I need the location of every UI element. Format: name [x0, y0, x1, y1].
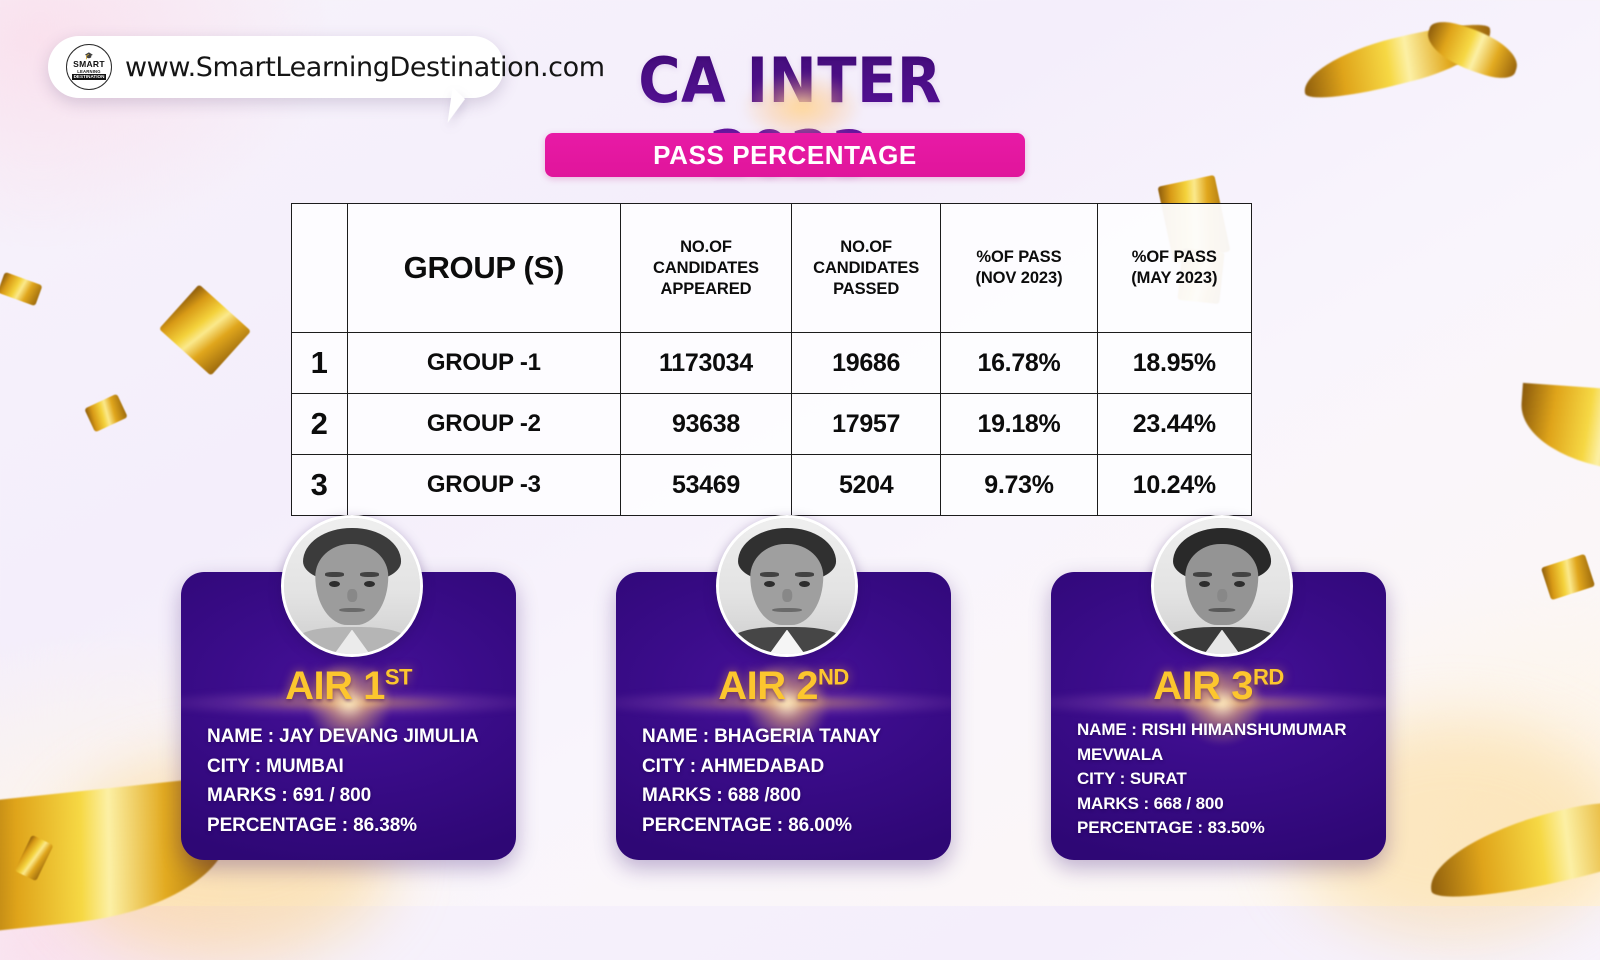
row-nov-pct: 16.78% [941, 333, 1097, 394]
topper-city: CITY : MUMBAI [207, 752, 507, 782]
header-may-l2: (MAY 2023) [1131, 269, 1217, 287]
brand-logo-icon: 🎓 SMART LEARNING DESTINATION [66, 44, 112, 90]
rank-text: AIR 2 [718, 664, 818, 708]
row-passed: 17957 [791, 394, 940, 455]
row-may-pct: 18.95% [1097, 333, 1251, 394]
row-group: GROUP -2 [347, 394, 620, 455]
rank-text: AIR 3 [1153, 664, 1253, 708]
header-nov-pass: %OF PASS (NOV 2023) [941, 204, 1097, 333]
row-appeared: 1173034 [621, 333, 792, 394]
topper-name: NAME : BHAGERIA TANAY [642, 722, 942, 752]
rank-suffix: ND [818, 665, 849, 690]
topper-name: NAME : JAY DEVANG JIMULIA [207, 722, 507, 752]
header-appeared-l2: CANDIDATES [653, 259, 759, 277]
header-appeared-l3: APPEARED [661, 280, 752, 298]
header-passed-l2: CANDIDATES [813, 259, 919, 277]
topper-percentage: PERCENTAGE : 86.38% [207, 811, 507, 841]
header-passed: NO.OF CANDIDATES PASSED [791, 204, 940, 333]
row-appeared: 93638 [621, 394, 792, 455]
subtitle-banner: PASS PERCENTAGE [545, 133, 1025, 177]
avatar-face [719, 518, 855, 654]
website-url[interactable]: www.SmartLearningDestination.com [125, 52, 605, 83]
table-row: 3 GROUP -3 53469 5204 9.73% 10.24% [292, 455, 1252, 516]
header-passed-l1: NO.OF [840, 238, 892, 256]
row-may-pct: 10.24% [1097, 455, 1251, 516]
gold-confetti-right-1 [1541, 554, 1595, 601]
topper-info-3: NAME : RISHI HIMANSHUMUMAR MEVWALA CITY … [1077, 718, 1377, 841]
topper-photo-1 [281, 515, 423, 657]
rank-label-1: AIR 1ST [181, 664, 516, 709]
header-appeared: NO.OF CANDIDATES APPEARED [621, 204, 792, 333]
topper-city: CITY : SURAT [1077, 767, 1377, 792]
row-nov-pct: 9.73% [941, 455, 1097, 516]
topper-marks: MARKS : 688 /800 [642, 781, 942, 811]
gold-confetti-left-2 [0, 272, 43, 306]
subtitle-banner-label: PASS PERCENTAGE [653, 140, 917, 171]
header-nov-l1: %OF PASS [976, 248, 1061, 266]
topper-info-2: NAME : BHAGERIA TANAY CITY : AHMEDABAD M… [642, 722, 942, 840]
row-passed: 19686 [791, 333, 940, 394]
rank-suffix: RD [1253, 665, 1284, 690]
row-group: GROUP -3 [347, 455, 620, 516]
topper-name: NAME : RISHI HIMANSHUMUMAR MEVWALA [1077, 718, 1377, 767]
gold-confetti-left-3 [84, 394, 128, 433]
topper-info-1: NAME : JAY DEVANG JIMULIA CITY : MUMBAI … [207, 722, 507, 840]
poster-canvas: 🎓 SMART LEARNING DESTINATION www.SmartLe… [0, 0, 1600, 906]
pass-percentage-table: GROUP (S) NO.OF CANDIDATES APPEARED NO.O… [291, 203, 1252, 516]
topper-percentage: PERCENTAGE : 83.50% [1077, 816, 1377, 841]
header-may-pass: %OF PASS (MAY 2023) [1097, 204, 1251, 333]
gold-ribbon-topright-2 [1421, 16, 1524, 83]
logo-text-smart: SMART [73, 60, 105, 69]
rank-text: AIR 1 [285, 664, 385, 708]
topper-marks: MARKS : 668 / 800 [1077, 792, 1377, 817]
row-nov-pct: 19.18% [941, 394, 1097, 455]
row-index: 3 [292, 455, 348, 516]
row-group: GROUP -1 [347, 333, 620, 394]
table-header-row: GROUP (S) NO.OF CANDIDATES APPEARED NO.O… [292, 204, 1252, 333]
row-appeared: 53469 [621, 455, 792, 516]
header-index [292, 204, 348, 333]
rank-label-3: AIR 3RD [1051, 664, 1386, 709]
topper-marks: MARKS : 691 / 800 [207, 781, 507, 811]
row-index: 1 [292, 333, 348, 394]
rank-suffix: ST [385, 665, 412, 690]
row-index: 2 [292, 394, 348, 455]
header-nov-l2: (NOV 2023) [975, 269, 1062, 287]
logo-text-destination: DESTINATION [72, 74, 107, 80]
row-may-pct: 23.44% [1097, 394, 1251, 455]
header-appeared-l1: NO.OF [680, 238, 732, 256]
row-passed: 5204 [791, 455, 940, 516]
header-group: GROUP (S) [347, 204, 620, 333]
topper-city: CITY : AHMEDABAD [642, 752, 942, 782]
topper-percentage: PERCENTAGE : 86.00% [642, 811, 942, 841]
gold-confetti-bottomleft [14, 835, 53, 881]
topper-photo-3 [1151, 515, 1293, 657]
header-passed-l3: PASSED [833, 280, 899, 298]
avatar-face [284, 518, 420, 654]
gold-ribbon-topright [1297, 15, 1497, 107]
gold-ribbon-right-bottom [1421, 786, 1600, 909]
topper-photo-2 [716, 515, 858, 657]
gold-ribbon-right-mid [1517, 383, 1600, 473]
table-row: 2 GROUP -2 93638 17957 19.18% 23.44% [292, 394, 1252, 455]
website-bubble[interactable]: 🎓 SMART LEARNING DESTINATION www.SmartLe… [48, 36, 504, 98]
gold-confetti-left-1 [159, 284, 251, 375]
table-row: 1 GROUP -1 1173034 19686 16.78% 18.95% [292, 333, 1252, 394]
avatar-face [1154, 518, 1290, 654]
header-may-l1: %OF PASS [1132, 248, 1217, 266]
rank-label-2: AIR 2ND [616, 664, 951, 709]
